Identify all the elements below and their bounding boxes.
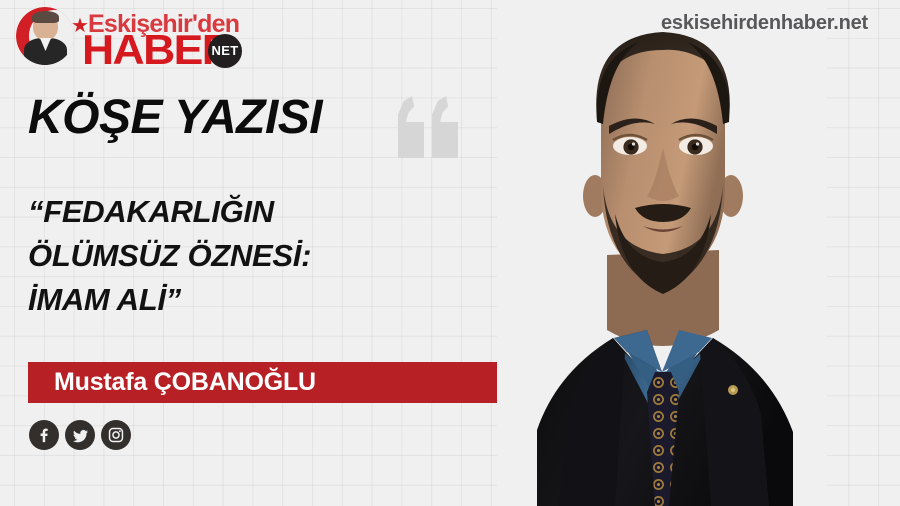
- title-line: İMAM ALİ”: [28, 278, 448, 322]
- twitter-icon[interactable]: [65, 420, 95, 450]
- columnist-portrait: [497, 0, 827, 506]
- logo-net-badge: NET: [208, 34, 242, 68]
- facebook-icon[interactable]: [29, 420, 59, 450]
- columnist-banner: ★ Eskişehir'den HABER NET eskisehirdenha…: [0, 0, 900, 506]
- page-kicker: KÖŞE YAZISI: [28, 90, 322, 146]
- author-bar[interactable]: Mustafa ÇOBANOĞLU: [28, 362, 503, 403]
- ataturk-crescent-icon: [16, 7, 74, 65]
- title-line: ÖLÜMSÜZ ÖZNESİ:: [28, 234, 448, 278]
- page-title: “FEDAKARLIĞIN ÖLÜMSÜZ ÖZNESİ: İMAM ALİ”: [28, 190, 448, 322]
- site-url: eskisehirdenhaber.net: [661, 12, 868, 35]
- title-line: “FEDAKARLIĞIN: [28, 190, 448, 234]
- quotation-mark-icon: [398, 96, 460, 164]
- site-logo[interactable]: ★ Eskişehir'den HABER NET: [16, 6, 246, 68]
- author-name: Mustafa ÇOBANOĞLU: [54, 368, 316, 397]
- social-links: [29, 420, 131, 450]
- instagram-icon[interactable]: [101, 420, 131, 450]
